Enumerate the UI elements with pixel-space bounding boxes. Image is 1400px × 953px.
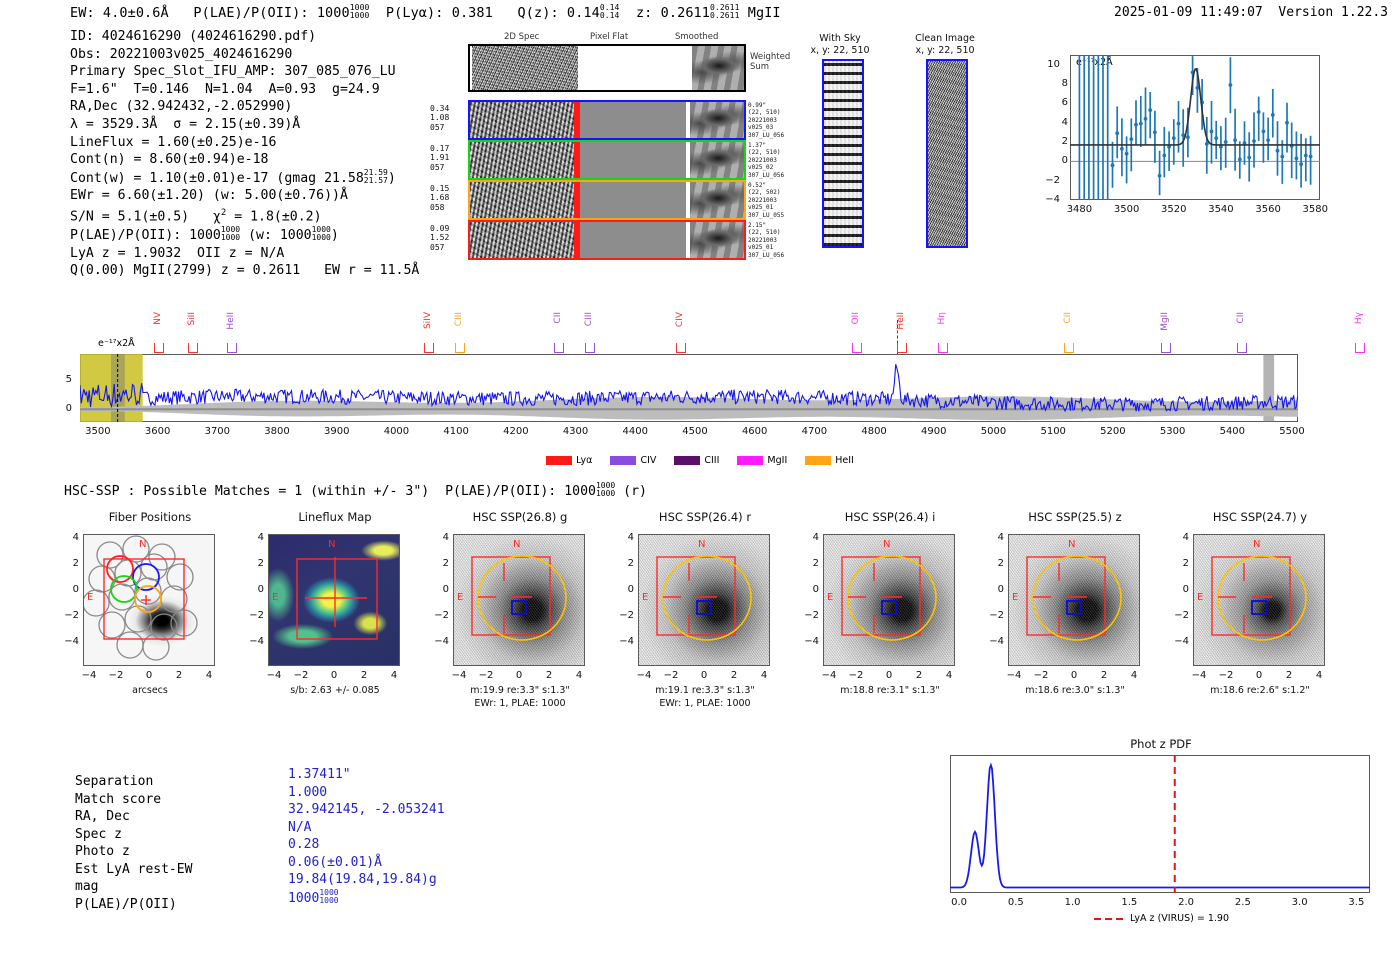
cutout-xtick: −2 xyxy=(655,670,687,681)
spectrum-legend: LyαCIVCIIIMgIIHeII xyxy=(0,455,1400,466)
wavelength-sigma-line: λ = 3529.3Å σ = 2.15(±0.39)Å xyxy=(70,116,419,134)
fiber-row xyxy=(468,140,746,180)
cutout-ytick: −4 xyxy=(1163,636,1189,647)
emission-line-bracket xyxy=(1355,343,1365,353)
legend-color-swatch xyxy=(610,456,636,465)
fiber-meta-value: 2.15" xyxy=(748,222,784,229)
phot-z-xtick: 0.0 xyxy=(941,897,977,908)
fiber-stat-value: 1.08 xyxy=(430,113,449,122)
match-properties-keys: SeparationMatch scoreRA, DecSpec zPhoto … xyxy=(75,773,192,913)
cutout-image[interactable] xyxy=(1193,534,1325,666)
cutout-ytick: 0 xyxy=(608,584,634,595)
cutout-xtick: 2 xyxy=(1088,670,1120,681)
fiber-stat-value: 057 xyxy=(430,163,449,172)
plae-b: (w: 1000 xyxy=(240,228,311,243)
spectrum-ytick: 0 xyxy=(52,403,72,414)
spectrum-xtick: 4100 xyxy=(435,426,477,437)
phot-z-xtick: 1.5 xyxy=(1111,897,1147,908)
header-summary-line: EW: 4.0±0.6Å P(LAE)/P(OII): 100010001000… xyxy=(70,4,781,21)
header-summary-b: P(Lyα): 0.381 Q(z): 0.14 xyxy=(386,5,600,21)
plae-line: P(LAE)/P(OII): 100010001000 (w: 10001000… xyxy=(70,226,419,245)
phot-z-xtick: 3.5 xyxy=(1338,897,1374,908)
cutout-xtick: 4 xyxy=(748,670,780,681)
emission-line-label: SiIV xyxy=(423,312,433,329)
spectrum-legend-item: CIV xyxy=(610,455,656,466)
emission-line-label: HeII xyxy=(896,312,906,330)
cutout-panel: HSC SSP(26.8) gNE420−2−4−4−2024m:19.9 re… xyxy=(425,508,615,733)
weighted-sum-label-line2: Sum xyxy=(750,62,790,72)
clean-image-title-line2: x, y: 22, 510 xyxy=(895,45,995,56)
emission-line-bracket xyxy=(227,343,237,353)
clean-image-image xyxy=(926,59,968,248)
line-profile-xtick: 3580 xyxy=(1297,204,1333,215)
east-indicator: E xyxy=(1012,592,1018,603)
legend-color-swatch xyxy=(737,456,763,465)
spectrum-xtick: 3800 xyxy=(256,426,298,437)
cutout-xtick: 4 xyxy=(1303,670,1335,681)
property-value: 0.06(±0.01)Å xyxy=(288,854,445,872)
cutout-xtick: −2 xyxy=(470,670,502,681)
weighted-sum-label: Weighted Sum xyxy=(750,52,790,72)
cutout-panel: Fiber PositionsNE420−2−4−4−2024arcsecs xyxy=(55,508,245,733)
header-summary-a: EW: 4.0±0.6Å P(LAE)/P(OII): 1000 xyxy=(70,5,350,21)
line-profile-xtick: 3480 xyxy=(1061,204,1097,215)
clean-image-title-line1: Clean Image xyxy=(895,33,995,44)
emission-line-label: CIV xyxy=(675,312,685,327)
cutout-caption-primary: m:19.9 re:3.3" s:1.3" xyxy=(425,685,615,696)
weighted-sum-label-line1: Weighted xyxy=(750,52,790,62)
fiber-row-meta: 1.37"(22, 510)20221003v025_02307_LU_056 xyxy=(748,142,784,179)
cutout-ytick: 4 xyxy=(423,532,449,543)
spectrum-xtick: 4500 xyxy=(674,426,716,437)
id-info-block: ID: 4024616290 (4024616290.pdf) Obs: 202… xyxy=(70,28,419,280)
fiber-row xyxy=(468,220,746,260)
cutout-xtick: −2 xyxy=(1210,670,1242,681)
cutout-panel: HSC SSP(25.5) zNE420−2−4−4−2024m:18.6 re… xyxy=(980,508,1170,733)
cutout-xtick: 0 xyxy=(318,670,350,681)
line-profile-xtick: 3520 xyxy=(1156,204,1192,215)
fiber-stat-value: 057 xyxy=(430,243,449,252)
fiber-meta-value: v025_01 xyxy=(748,204,784,211)
cutout-ytick: −4 xyxy=(978,636,1004,647)
cutout-ytick: 0 xyxy=(238,584,264,595)
line-profile-xtick: 3500 xyxy=(1109,204,1145,215)
north-indicator: N xyxy=(328,539,335,550)
cutout-panel: Lineflux MapNE420−2−4−4−2024s/b: 2.63 +/… xyxy=(240,508,430,733)
id-line: ID: 4024616290 (4024616290.pdf) xyxy=(70,28,419,46)
spectrum-xtick: 4600 xyxy=(734,426,776,437)
fiber-row-stats: 0.171.91057 xyxy=(430,144,449,172)
with-sky-title-line2: x, y: 22, 510 xyxy=(795,45,885,56)
fiber-meta-value: 307_LU_056 xyxy=(748,172,784,179)
fiber-stat-value: 1.52 xyxy=(430,233,449,242)
line-profile-xtick: 3560 xyxy=(1250,204,1286,215)
spectrum-xtick: 5400 xyxy=(1211,426,1253,437)
fiber-meta-value: v025_02 xyxy=(748,164,784,171)
cutout-image[interactable] xyxy=(83,534,215,666)
line-profile-ytick: 4 xyxy=(1046,117,1068,128)
spectrum-xtick: 5300 xyxy=(1152,426,1194,437)
plae-c: ) xyxy=(331,228,339,243)
spectrum-xtick: 3700 xyxy=(196,426,238,437)
property-key: Match score xyxy=(75,791,192,809)
obs-line: Obs: 20221003v025_4024616290 xyxy=(70,46,419,64)
fiber-row-meta: 2.15"(22, 510)20221003v025_01307_LU_056 xyxy=(748,222,784,259)
spectrum-legend-item: CIII xyxy=(674,455,719,466)
sn-text: S/N = 5.1(±0.5) χ xyxy=(70,209,221,224)
emission-line-bracket xyxy=(455,343,465,353)
fiber-stat-value: 0.15 xyxy=(430,184,449,193)
cutout-xtick: 2 xyxy=(348,670,380,681)
line-profile-xtick: 3540 xyxy=(1203,204,1239,215)
line-profile-ytick: 10 xyxy=(1038,59,1060,70)
cutout-xtick: 4 xyxy=(193,670,225,681)
cutout-ytick: 2 xyxy=(1163,558,1189,569)
cutout-xtick: −2 xyxy=(100,670,132,681)
montage-col-title-pixelflat: Pixel Flat xyxy=(590,32,628,42)
fiber-stat-value: 1.68 xyxy=(430,193,449,202)
header-plae-fraction: 10001000 xyxy=(350,4,370,20)
property-value: 32.942145, -2.053241 xyxy=(288,801,445,819)
cutout-ytick: −2 xyxy=(1163,610,1189,621)
legend-label: MgII xyxy=(767,455,787,466)
phot-z-xtick: 3.0 xyxy=(1282,897,1318,908)
emission-line-bracket xyxy=(154,343,164,353)
chi2-value: = 1.8(±0.2) xyxy=(226,209,321,224)
property-key: Est LyA rest-EW xyxy=(75,861,192,879)
property-value: 1.000 xyxy=(288,784,445,802)
primary-spec-line: Primary Spec_Slot_IFU_AMP: 307_085_076_L… xyxy=(70,63,419,81)
property-value: N/A xyxy=(288,819,445,837)
emission-line-label: OII xyxy=(851,312,861,324)
cutout-title: HSC SSP(24.7) y xyxy=(1165,510,1355,524)
fiber-meta-value: v025_01 xyxy=(748,244,784,251)
cutout-ytick: 0 xyxy=(423,584,449,595)
line-profile-ytick: 6 xyxy=(1046,97,1068,108)
cutout-ytick: 2 xyxy=(793,558,819,569)
header-timestamp-version: 2025-01-09 11:49:07 Version 1.22.3 xyxy=(1114,5,1388,20)
fiber-row-meta: 0.99"(22, 510)20221003v025_03307_LU_056 xyxy=(748,102,784,139)
fiber-stat-value: 057 xyxy=(430,123,449,132)
spectrum-legend-item: MgII xyxy=(737,455,787,466)
fiber-meta-value: 0.99" xyxy=(748,102,784,109)
property-key: Separation xyxy=(75,773,192,791)
timestamp-text: 2025-01-09 11:49:07 xyxy=(1114,5,1263,20)
plae-fraction-2: 10001000 xyxy=(312,226,331,242)
north-indicator: N xyxy=(1253,539,1260,550)
hsc-ssp-header: HSC-SSP : Possible Matches = 1 (within +… xyxy=(64,482,647,499)
cutout-ytick: 4 xyxy=(238,532,264,543)
cutout-xlabel: arcsecs xyxy=(55,685,245,696)
cutout-image[interactable] xyxy=(268,534,400,666)
property-value: 100010001000 xyxy=(288,889,445,908)
fiber-meta-value: 20221003 xyxy=(748,237,784,244)
fiber-meta-value: 0.52" xyxy=(748,182,784,189)
emission-line-bracket xyxy=(585,343,595,353)
lineflux-line: LineFlux = 1.60(±0.25)e-16 xyxy=(70,134,419,152)
plae-a: P(LAE)/P(OII): 1000 xyxy=(70,228,221,243)
line-profile-plot: e⁻¹⁷x2Å −4−20246810 34803500352035403560… xyxy=(1040,55,1320,240)
spectrum-xtick: 3600 xyxy=(137,426,179,437)
spectrum-xtick: 3500 xyxy=(77,426,119,437)
phot-z-pdf-svg xyxy=(950,755,1370,893)
legend-label: CIII xyxy=(704,455,719,466)
cutout-xtick: 4 xyxy=(563,670,595,681)
property-value: 0.28 xyxy=(288,836,445,854)
spectrum-svg xyxy=(80,354,1298,422)
spectrum-xtick: 5500 xyxy=(1271,426,1313,437)
cutout-title: HSC SSP(26.4) r xyxy=(610,510,800,524)
montage-col-title-2dspec: 2D Spec xyxy=(504,32,539,42)
cutout-image[interactable] xyxy=(823,534,955,666)
emission-line-label: CIII xyxy=(454,312,464,326)
spectrum-xtick: 5100 xyxy=(1032,426,1074,437)
spectrum-xtick: 3900 xyxy=(316,426,358,437)
phot-z-pdf-title: Phot z PDF xyxy=(932,737,1390,751)
emission-line-label: SiII xyxy=(187,312,197,326)
cutout-xtick: 2 xyxy=(533,670,565,681)
fiber-meta-value: 20221003 xyxy=(748,157,784,164)
fiber-stat-value: 0.34 xyxy=(430,104,449,113)
property-value: 19.84(19.84,19.84)g xyxy=(288,871,445,889)
cutout-title: HSC SSP(25.5) z xyxy=(980,510,1170,524)
fiber-meta-value: 20221003 xyxy=(748,197,784,204)
phot-z-xtick: 1.0 xyxy=(1055,897,1091,908)
cutout-xtick: 4 xyxy=(378,670,410,681)
east-indicator: E xyxy=(642,592,648,603)
cutout-caption-primary: m:18.6 re:3.0" s:1.3" xyxy=(980,685,1170,696)
seeing-line: F=1.6" T=0.146 N=1.04 A=0.93 g=24.9 xyxy=(70,81,419,99)
fiber-row-stats: 0.091.52057 xyxy=(430,224,449,252)
spectrum-flux-units: e⁻¹⁷x2Å xyxy=(98,338,135,349)
east-indicator: E xyxy=(827,592,833,603)
cutout-ytick: 4 xyxy=(53,532,79,543)
cutout-xtick: 2 xyxy=(163,670,195,681)
cutout-panel: HSC SSP(24.7) yNE420−2−4−4−2024m:18.6 re… xyxy=(1165,508,1355,733)
spectrum-xtick: 5000 xyxy=(973,426,1015,437)
fiber-meta-value: 307_LU_055 xyxy=(748,212,784,219)
phot-z-legend: LyA z (VIRUS) = 1.90 xyxy=(932,913,1390,924)
version-text: Version 1.22.3 xyxy=(1278,5,1388,20)
fiber-row-stats: 0.151.68058 xyxy=(430,184,449,212)
cutout-panel: HSC SSP(26.4) rNE420−2−4−4−2024m:19.1 re… xyxy=(610,508,800,733)
header-qz-fraction: 0.140.14 xyxy=(600,4,620,20)
cutout-xtick: 4 xyxy=(1118,670,1150,681)
cutout-ytick: 4 xyxy=(978,532,1004,543)
spectrum-xtick: 5200 xyxy=(1092,426,1134,437)
cutout-ytick: 4 xyxy=(608,532,634,543)
spectrum-xtick: 4200 xyxy=(495,426,537,437)
cont-wide-a: Cont(w) = 1.10(±0.01)e-17 (gmag 21.58 xyxy=(70,171,364,186)
cutout-ytick: −4 xyxy=(793,636,819,647)
property-value: 1.37411" xyxy=(288,766,445,784)
cutout-ytick: 2 xyxy=(53,558,79,569)
with-sky-title-line1: With Sky xyxy=(795,33,885,44)
full-spectrum-plot: NVSiIIHeIISiIVCIIICIICIIICIVOIIHeIIHηCII… xyxy=(0,300,1400,470)
cutout-ytick: −4 xyxy=(423,636,449,647)
fiber-meta-value: 1.37" xyxy=(748,142,784,149)
cutout-panel: HSC SSP(26.4) iNE420−2−4−4−2024m:18.8 re… xyxy=(795,508,985,733)
cutout-ytick: −2 xyxy=(608,610,634,621)
cutout-ytick: 2 xyxy=(608,558,634,569)
emission-line-bracket xyxy=(1161,343,1171,353)
east-indicator: E xyxy=(1197,592,1203,603)
spectrum-xtick: 4400 xyxy=(614,426,656,437)
line-profile-ytick: 0 xyxy=(1046,155,1068,166)
cutout-title: HSC SSP(26.4) i xyxy=(795,510,985,524)
fiber-meta-value: v025_03 xyxy=(748,124,784,131)
emission-line-label: Hγ xyxy=(1354,312,1364,324)
spectrum-xtick: 4800 xyxy=(853,426,895,437)
cutout-xtick: 0 xyxy=(688,670,720,681)
cutout-xtick: 2 xyxy=(1273,670,1305,681)
emission-line-label: NV xyxy=(153,312,163,325)
spectrum-xtick: 4700 xyxy=(793,426,835,437)
radec-line: RA,Dec (32.942432,-2.052990) xyxy=(70,98,419,116)
phot-z-pdf-plot: Phot z PDF 0.00.51.01.52.02.53.03.5 LyA … xyxy=(932,737,1390,922)
cutout-xtick: 2 xyxy=(718,670,750,681)
cutout-caption-primary: s/b: 2.63 +/- 0.085 xyxy=(240,685,430,696)
legend-color-swatch xyxy=(805,456,831,465)
north-indicator: N xyxy=(139,539,146,550)
twod-spec-montage: 2D Spec Pixel Flat Smoothed Weighted Sum… xyxy=(430,32,760,257)
cutout-ytick: −4 xyxy=(53,636,79,647)
fiber-meta-value: (22, 502) xyxy=(748,189,784,196)
montage-col-title-smoothed: Smoothed xyxy=(675,32,718,42)
line-profile-ytick: 2 xyxy=(1046,136,1068,147)
line-profile-ytick: −2 xyxy=(1038,175,1060,186)
spectrum-xtick: 4000 xyxy=(375,426,417,437)
cutout-ytick: 0 xyxy=(978,584,1004,595)
sn-chi2-line: S/N = 5.1(±0.5) χ2 = 1.8(±0.2) xyxy=(70,205,419,226)
emission-line-bracket xyxy=(188,343,198,353)
property-key: Photo z xyxy=(75,843,192,861)
emission-line-bracket xyxy=(554,343,564,353)
cutout-xtick: −2 xyxy=(1025,670,1057,681)
cutout-xtick: 2 xyxy=(903,670,935,681)
cutout-caption-secondary: EWr: 1, PLAE: 1000 xyxy=(425,698,615,709)
cutout-xtick: 0 xyxy=(133,670,165,681)
emission-line-bracket xyxy=(424,343,434,353)
cutout-ytick: −2 xyxy=(423,610,449,621)
phot-z-xtick: 2.5 xyxy=(1225,897,1261,908)
legend-label: CIV xyxy=(640,455,656,466)
cutout-caption-primary: m:18.8 re:3.1" s:1.3" xyxy=(795,685,985,696)
emission-line-bracket xyxy=(897,343,907,353)
fiber-meta-value: (22, 510) xyxy=(748,149,784,156)
fiber-meta-value: 307_LU_056 xyxy=(748,252,784,259)
emission-line-bracket xyxy=(938,343,948,353)
emission-line-label: CII xyxy=(1236,312,1246,324)
fiber-stat-value: 1.91 xyxy=(430,153,449,162)
fiber-stat-value: 0.09 xyxy=(430,224,449,233)
header-summary-d: MgII xyxy=(748,5,781,21)
cutout-ytick: 4 xyxy=(1163,532,1189,543)
east-indicator: E xyxy=(87,592,93,603)
phot-z-xtick: 0.5 xyxy=(998,897,1034,908)
phot-z-legend-label: LyA z (VIRUS) = 1.90 xyxy=(1130,913,1229,924)
cutout-ytick: −2 xyxy=(238,610,264,621)
emission-line-label: CIII xyxy=(584,312,594,326)
line-profile-svg xyxy=(1070,55,1320,200)
spectrum-legend-item: Lyα xyxy=(546,455,592,466)
fiber-meta-value: 307_LU_056 xyxy=(748,132,784,139)
emission-line-bracket xyxy=(852,343,862,353)
property-key: RA, Dec xyxy=(75,808,192,826)
emission-line-bracket xyxy=(1064,343,1074,353)
spectrum-legend-item: HeII xyxy=(805,455,854,466)
hsc-ssp-header-suffix: (r) xyxy=(615,484,647,499)
cutout-xtick: 0 xyxy=(873,670,905,681)
legend-color-swatch xyxy=(546,456,572,465)
plae-fraction-1: 10001000 xyxy=(221,226,240,242)
fiber-stat-value: 0.17 xyxy=(430,144,449,153)
lya-oii-z-line: LyA z = 1.9032 OII z = N/A xyxy=(70,245,419,263)
cutout-image[interactable] xyxy=(638,534,770,666)
property-key: P(LAE)/P(OII) xyxy=(75,896,192,914)
fiber-row-meta: 0.52"(22, 502)20221003v025_01307_LU_055 xyxy=(748,182,784,219)
cutout-title: Lineflux Map xyxy=(240,510,430,524)
cutout-xtick: 0 xyxy=(503,670,535,681)
fiber-row-stats: 0.341.08057 xyxy=(430,104,449,132)
hsc-plae-fraction: 10001000 xyxy=(596,482,615,498)
emission-line-label: HeII xyxy=(226,312,236,330)
weighted-sum-strip xyxy=(468,44,746,92)
emission-line-bracket xyxy=(676,343,686,353)
cont-narrow-line: Cont(n) = 8.60(±0.94)e-18 xyxy=(70,151,419,169)
north-indicator: N xyxy=(698,539,705,550)
north-indicator: N xyxy=(1068,539,1075,550)
cutout-ytick: 2 xyxy=(978,558,1004,569)
header-summary-c: z: 0.2611 xyxy=(636,5,710,21)
cutout-xtick: 0 xyxy=(1058,670,1090,681)
cutout-ytick: 0 xyxy=(1163,584,1189,595)
north-indicator: N xyxy=(883,539,890,550)
phot-z-xtick: 2.0 xyxy=(1168,897,1204,908)
cutout-xtick: −2 xyxy=(840,670,872,681)
legend-label: Lyα xyxy=(576,455,592,466)
cutout-ytick: −2 xyxy=(53,610,79,621)
east-indicator: E xyxy=(457,592,463,603)
cutout-image[interactable] xyxy=(453,534,585,666)
cutout-title: Fiber Positions xyxy=(55,510,245,524)
phot-z-legend-dash-icon xyxy=(1093,914,1127,924)
north-indicator: N xyxy=(513,539,520,550)
cutout-title: HSC SSP(26.8) g xyxy=(425,510,615,524)
cutout-caption-primary: m:18.6 re:2.6" s:1.2" xyxy=(1165,685,1355,696)
cutout-image[interactable] xyxy=(1008,534,1140,666)
fiber-meta-value: (22, 510) xyxy=(748,229,784,236)
with-sky-image xyxy=(822,59,864,248)
legend-label: HeII xyxy=(835,455,854,466)
emission-line-label: CII xyxy=(1063,312,1073,324)
emission-line-label: CII xyxy=(553,312,563,324)
cutout-ytick: −4 xyxy=(238,636,264,647)
cutout-xtick: 0 xyxy=(1243,670,1275,681)
ewr-line: EWr = 6.60(±1.20) (w: 5.00(±0.76))Å xyxy=(70,187,419,205)
cutout-ytick: 0 xyxy=(53,584,79,595)
header-z-fraction: 0.26110.2611 xyxy=(710,4,740,20)
fiber-row xyxy=(468,180,746,220)
emission-line-bracket xyxy=(1237,343,1247,353)
hsc-ssp-header-prefix: HSC-SSP : Possible Matches = 1 (within +… xyxy=(64,484,596,499)
line-profile-ytick: −4 xyxy=(1038,194,1060,205)
fiber-meta-value: (22, 510) xyxy=(748,109,784,116)
east-indicator: E xyxy=(272,592,278,603)
spectrum-xtick: 4300 xyxy=(555,426,597,437)
cutout-ytick: 2 xyxy=(423,558,449,569)
gmag-fraction: 21.5921.57 xyxy=(364,169,388,185)
